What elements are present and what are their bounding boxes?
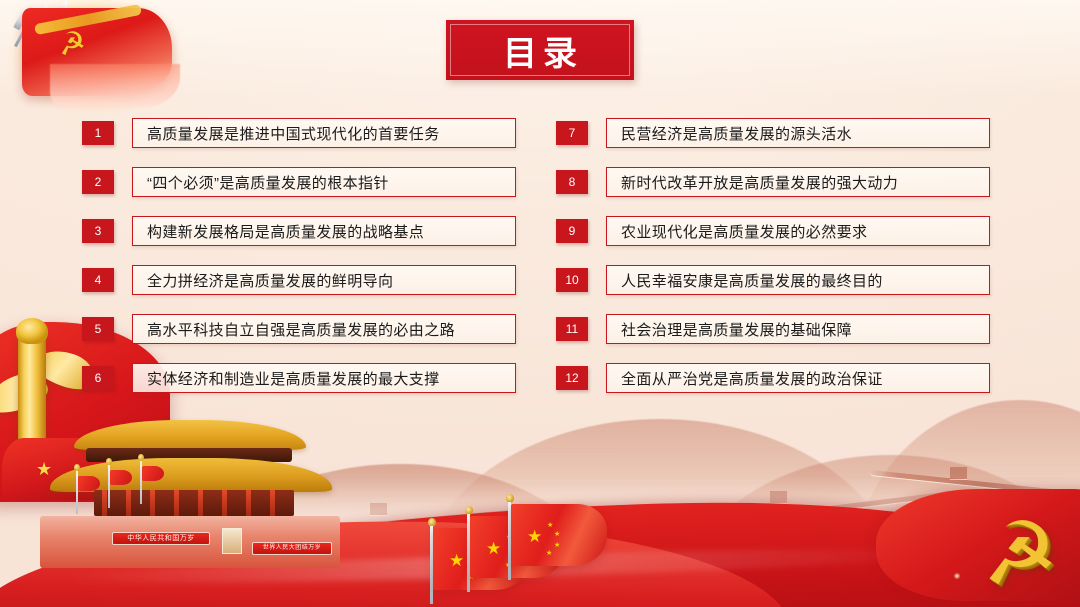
toc-entry-box[interactable]: 全面从严治党是高质量发展的政治保证 [606, 363, 990, 393]
toc-entry[interactable]: 1 高质量发展是推进中国式现代化的首要任务 [82, 118, 522, 148]
toc-entry-label: 社会治理是高质量发展的基础保障 [607, 319, 852, 340]
toc-entry-label: 农业现代化是高质量发展的必然要求 [607, 221, 867, 242]
toc-number-badge: 7 [556, 121, 588, 145]
toc-entry-label: 全面从严治党是高质量发展的政治保证 [607, 368, 883, 389]
toc-entry[interactable]: 5 高水平科技自立自强是高质量发展的必由之路 [82, 314, 522, 344]
toc-column-left: 1 高质量发展是推进中国式现代化的首要任务 2 “四个必须”是高质量发展的根本指… [82, 118, 522, 412]
toc-entry[interactable]: 8 新时代改革开放是高质量发展的强大动力 [556, 167, 996, 197]
toc-number-badge: 11 [556, 317, 588, 341]
toc-number-badge: 8 [556, 170, 588, 194]
toc-entry-box[interactable]: 高水平科技自立自强是高质量发展的必由之路 [132, 314, 516, 344]
toc-entry-label: 人民幸福安康是高质量发展的最终目的 [607, 270, 883, 291]
toc-entry[interactable]: 4 全力拼经济是高质量发展的鲜明导向 [82, 265, 522, 295]
toc-number-badge: 6 [82, 366, 114, 390]
toc-number-badge: 4 [82, 268, 114, 292]
toc-number-badge: 2 [82, 170, 114, 194]
toc-entry-box[interactable]: 社会治理是高质量发展的基础保障 [606, 314, 990, 344]
toc-number-badge: 5 [82, 317, 114, 341]
toc-entry-box[interactable]: 民营经济是高质量发展的源头活水 [606, 118, 990, 148]
toc-number-badge: 9 [556, 219, 588, 243]
toc-entry[interactable]: 6 实体经济和制造业是高质量发展的最大支撑 [82, 363, 522, 393]
toc-number-badge: 3 [82, 219, 114, 243]
table-of-contents: 1 高质量发展是推进中国式现代化的首要任务 2 “四个必须”是高质量发展的根本指… [0, 0, 1080, 607]
toc-entry[interactable]: 12 全面从严治党是高质量发展的政治保证 [556, 363, 996, 393]
toc-entry[interactable]: 10 人民幸福安康是高质量发展的最终目的 [556, 265, 996, 295]
toc-entry-label: 新时代改革开放是高质量发展的强大动力 [607, 172, 898, 193]
toc-entry-box[interactable]: 构建新发展格局是高质量发展的战略基点 [132, 216, 516, 246]
toc-entry-label: “四个必须”是高质量发展的根本指针 [133, 172, 389, 193]
toc-entry-box[interactable]: 高质量发展是推进中国式现代化的首要任务 [132, 118, 516, 148]
toc-entry-box[interactable]: 实体经济和制造业是高质量发展的最大支撑 [132, 363, 516, 393]
toc-entry-label: 构建新发展格局是高质量发展的战略基点 [133, 221, 424, 242]
toc-entry-label: 实体经济和制造业是高质量发展的最大支撑 [133, 368, 440, 389]
toc-entry[interactable]: 2 “四个必须”是高质量发展的根本指针 [82, 167, 522, 197]
toc-number-badge: 1 [82, 121, 114, 145]
toc-entry-box[interactable]: “四个必须”是高质量发展的根本指针 [132, 167, 516, 197]
toc-entry[interactable]: 3 构建新发展格局是高质量发展的战略基点 [82, 216, 522, 246]
toc-entry[interactable]: 11 社会治理是高质量发展的基础保障 [556, 314, 996, 344]
toc-entry-box[interactable]: 全力拼经济是高质量发展的鲜明导向 [132, 265, 516, 295]
toc-number-badge: 10 [556, 268, 588, 292]
toc-column-right: 7 民营经济是高质量发展的源头活水 8 新时代改革开放是高质量发展的强大动力 9… [556, 118, 996, 412]
toc-entry-label: 高质量发展是推进中国式现代化的首要任务 [133, 123, 440, 144]
toc-entry[interactable]: 9 农业现代化是高质量发展的必然要求 [556, 216, 996, 246]
slide-canvas: ☭ ★ ★ ★ 中华人民共和国万岁 世界人民大团结万岁 [0, 0, 1080, 607]
toc-entry-box[interactable]: 人民幸福安康是高质量发展的最终目的 [606, 265, 990, 295]
toc-entry-label: 高水平科技自立自强是高质量发展的必由之路 [133, 319, 455, 340]
toc-entry-box[interactable]: 新时代改革开放是高质量发展的强大动力 [606, 167, 990, 197]
toc-entry-box[interactable]: 农业现代化是高质量发展的必然要求 [606, 216, 990, 246]
toc-entry[interactable]: 7 民营经济是高质量发展的源头活水 [556, 118, 996, 148]
toc-number-badge: 12 [556, 366, 588, 390]
toc-entry-label: 全力拼经济是高质量发展的鲜明导向 [133, 270, 393, 291]
toc-entry-label: 民营经济是高质量发展的源头活水 [607, 123, 852, 144]
